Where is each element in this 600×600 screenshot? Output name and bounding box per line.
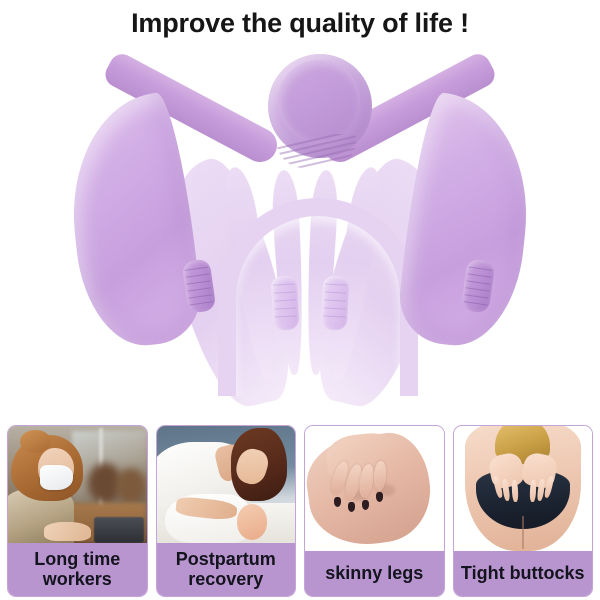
benefit-card-skinny-legs[interactable]: skinny legs [304,425,445,597]
card-photo-postpartum-recovery [157,426,296,543]
benefit-card-long-time-workers[interactable]: Long time workers [7,425,148,597]
card-caption-skinny-legs: skinny legs [305,551,444,596]
page-title: Improve the quality of life ! [131,8,469,39]
product-illustration [40,38,560,410]
card-caption-tight-buttocks: Tight buttocks [454,551,593,596]
product-knob-ribs [276,134,356,168]
card-photo-tight-buttocks [454,426,593,551]
card-photo-long-time-workers [8,426,147,543]
card-photo-skinny-legs [305,426,444,551]
product-inner-grip-right [321,275,350,330]
benefit-card-postpartum-recovery[interactable]: Postpartum recovery [156,425,297,597]
product-hero-image [0,38,600,420]
product-center-bow [218,198,418,396]
benefit-card-tight-buttocks[interactable]: Tight buttocks [453,425,594,597]
benefit-card-row: Long time workers Postpartum recovery [0,425,600,597]
face-mask-icon [40,465,73,491]
product-inner-grip-left [271,275,300,330]
page-header: Improve the quality of life ! [0,0,600,46]
card-caption-postpartum-recovery: Postpartum recovery [157,543,296,596]
product-knob-face [278,60,360,142]
card-caption-long-time-workers: Long time workers [8,543,147,596]
